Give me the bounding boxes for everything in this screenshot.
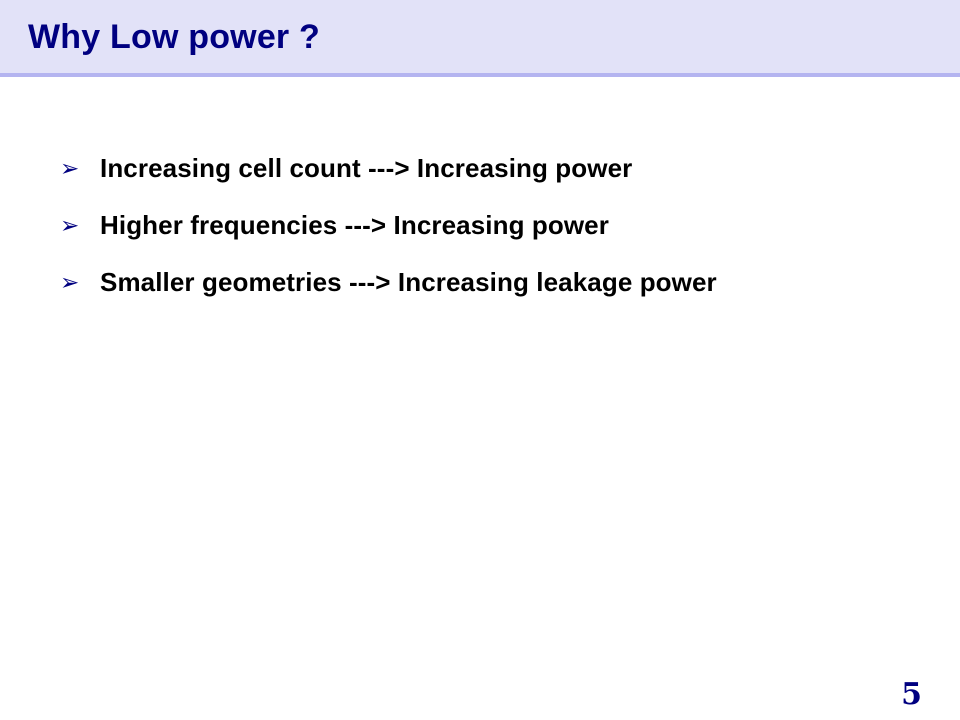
title-divider (0, 73, 960, 77)
list-item-label: Increasing cell count ---> Increasing po… (100, 152, 920, 184)
arrowhead-bullet-icon: ➢ (60, 152, 100, 184)
bullet-list: ➢ Increasing cell count ---> Increasing … (60, 152, 920, 323)
slide: Why Low power ? ➢ Increasing cell count … (0, 0, 960, 720)
list-item: ➢ Higher frequencies ---> Increasing pow… (60, 209, 920, 266)
slide-title-band: Why Low power ? (0, 0, 960, 73)
list-item-label: Higher frequencies ---> Increasing power (100, 209, 920, 241)
arrowhead-bullet-icon: ➢ (60, 266, 100, 298)
page-number: 5 (901, 678, 922, 712)
list-item: ➢ Increasing cell count ---> Increasing … (60, 152, 920, 209)
list-item-label: Smaller geometries ---> Increasing leaka… (100, 266, 920, 298)
arrowhead-bullet-icon: ➢ (60, 209, 100, 241)
list-item: ➢ Smaller geometries ---> Increasing lea… (60, 266, 920, 323)
page-title: Why Low power ? (28, 17, 320, 57)
